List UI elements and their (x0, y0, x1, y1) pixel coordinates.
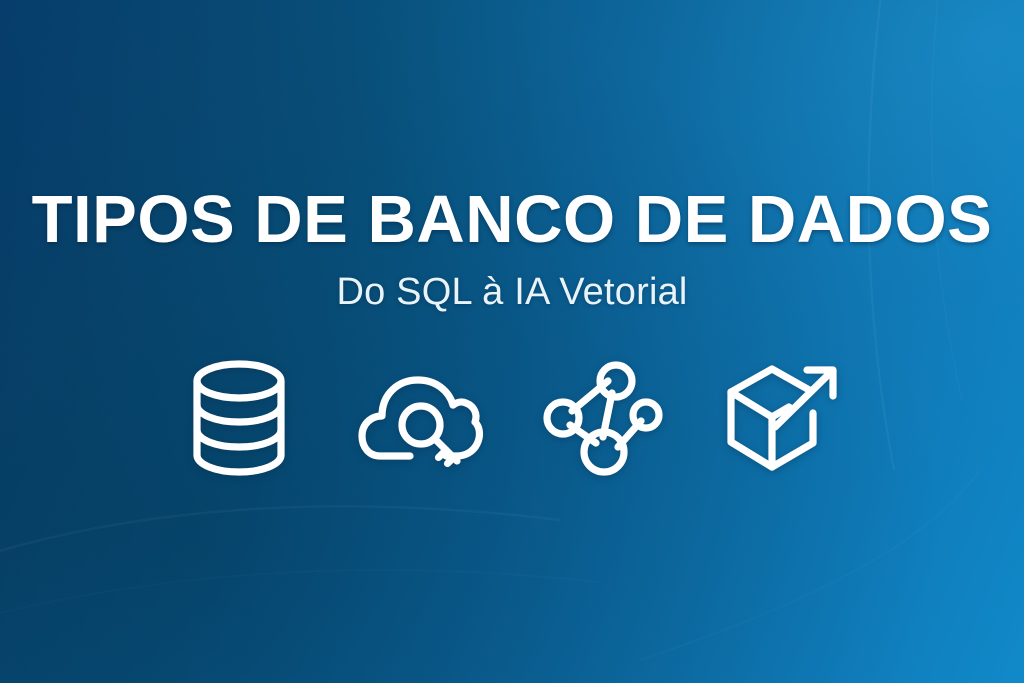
icon-cell-cube-vector (720, 352, 850, 484)
cube-vector-arrow-icon (723, 357, 847, 479)
icon-cell-cloud-key (356, 352, 486, 484)
page-subtitle: Do SQL à IA Vetorial (0, 272, 1024, 314)
database-cylinder-icon (189, 359, 289, 477)
cloud-key-search-icon (358, 359, 484, 477)
poster-content: TIPOS DE BANCO DE DADOS Do SQL à IA Veto… (0, 0, 1024, 683)
page-title: TIPOS DE BANCO DE DADOS (0, 186, 1024, 253)
icon-cell-database (174, 352, 304, 484)
icon-cell-graph (538, 352, 668, 484)
graph-network-icon (542, 359, 664, 477)
icon-row (0, 352, 1024, 484)
poster-canvas: TIPOS DE BANCO DE DADOS Do SQL à IA Veto… (0, 0, 1024, 683)
